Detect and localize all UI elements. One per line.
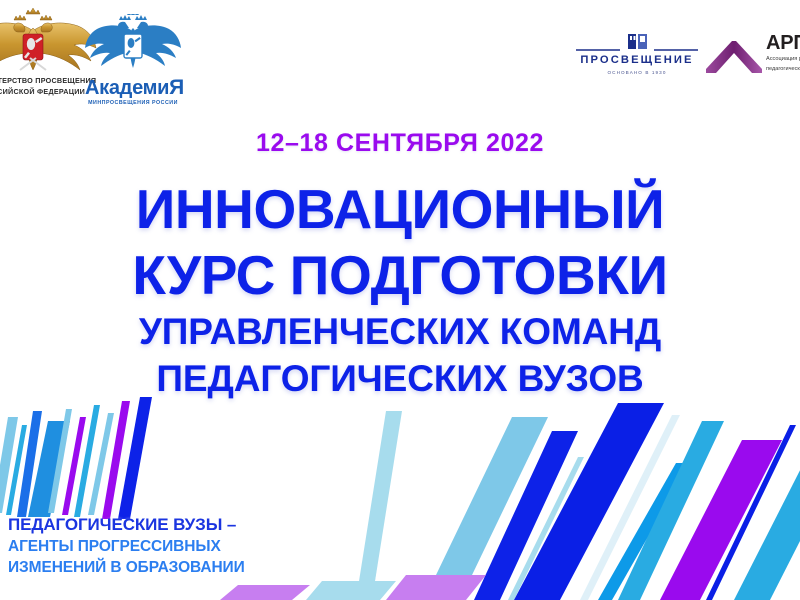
tagline-line-1: ПЕДАГОГИЧЕСКИЕ ВУЗЫ – bbox=[8, 514, 245, 536]
academy-word-part2: Я bbox=[169, 76, 184, 99]
tagline-line-3: ИЗМЕНЕНИЙ В ОБРАЗОВАНИИ bbox=[8, 557, 245, 578]
academy-wordmark: АкадемиЯ bbox=[85, 78, 181, 98]
title-line-4: ПЕДАГОГИЧЕСКИХ ВУЗОВ bbox=[0, 355, 800, 402]
open-book-icon bbox=[572, 32, 702, 54]
prosveshchenie-wordmark: ПРОСВЕЩЕНИЕ bbox=[572, 54, 702, 67]
academy-subtitle: МИНПРОСВЕЩЕНИЯ РОССИИ bbox=[85, 100, 181, 106]
prosveshchenie-logo: ПРОСВЕЩЕНИЕ ОСНОВАНО В 1930 bbox=[572, 32, 702, 75]
tagline-line-2: АГЕНТЫ ПРОГРЕССИВНЫХ bbox=[8, 536, 245, 557]
title-line-1: ИННОВАЦИОННЫЙ bbox=[0, 176, 800, 242]
chevron-icon bbox=[706, 39, 762, 73]
tagline-block: ПЕДАГОГИЧЕСКИЕ ВУЗЫ – АГЕНТЫ ПРОГРЕССИВН… bbox=[8, 514, 245, 578]
arpo-subtitle-line2: педагогического образов bbox=[766, 66, 800, 74]
headline-block: 12–18 СЕНТЯБРЯ 2022 ИННОВАЦИОННЫЙ КУРС П… bbox=[0, 128, 800, 402]
academy-word-part1: Академи bbox=[85, 77, 169, 99]
academy-eagle-icon bbox=[85, 14, 181, 77]
title-line-3: УПРАВЛЕНЧЕСКИХ КОМАНД bbox=[0, 308, 800, 355]
event-date: 12–18 СЕНТЯБРЯ 2022 bbox=[0, 128, 800, 158]
logo-bar: МИНИСТЕРСТВО ПРОСВЕЩЕНИЯ РОССИЙСКОЙ ФЕДЕ… bbox=[0, 0, 800, 120]
arpo-subtitle-line1: Ассоциация развития bbox=[766, 56, 800, 64]
academy-logo: АкадемиЯ МИНПРОСВЕЩЕНИЯ РОССИИ bbox=[85, 14, 181, 106]
poster-canvas: МИНИСТЕРСТВО ПРОСВЕЩЕНИЯ РОССИЙСКОЙ ФЕДЕ… bbox=[0, 0, 800, 600]
title-line-2: КУРС ПОДГОТОВКИ bbox=[0, 242, 800, 308]
prosveshchenie-subtitle: ОСНОВАНО В 1930 bbox=[572, 70, 702, 75]
arpo-text-block: АРПО Ассоциация развития педагогического… bbox=[766, 33, 800, 73]
arpo-wordmark: АРПО bbox=[766, 33, 800, 54]
